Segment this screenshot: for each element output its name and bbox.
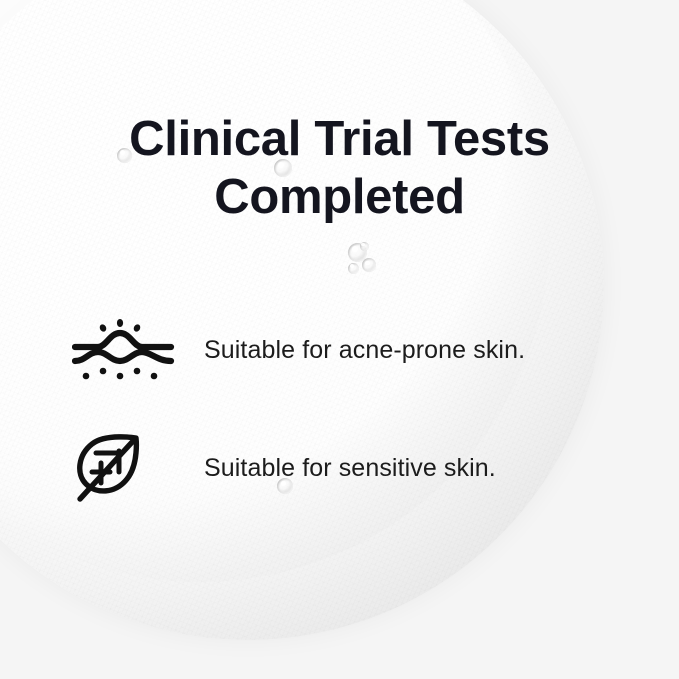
droplet-cluster-small-a	[362, 258, 376, 272]
list-item: Suitable for acne-prone skin.	[0, 312, 679, 388]
skin-waves-icon	[72, 319, 184, 381]
feature-label: Suitable for sensitive skin.	[204, 454, 496, 483]
list-item: Suitable for sensitive skin.	[0, 430, 679, 506]
droplet-cluster-small-c	[360, 242, 369, 251]
page-title: Clinical Trial Tests Completed	[0, 110, 679, 226]
feature-label: Suitable for acne-prone skin.	[204, 336, 525, 365]
leaf-icon	[72, 431, 184, 505]
product-infographic: Clinical Trial Tests Completed Suitable	[0, 0, 679, 679]
droplet-cluster-small-b	[348, 263, 359, 274]
feature-list: Suitable for acne-prone skin. Suitable f…	[0, 312, 679, 506]
